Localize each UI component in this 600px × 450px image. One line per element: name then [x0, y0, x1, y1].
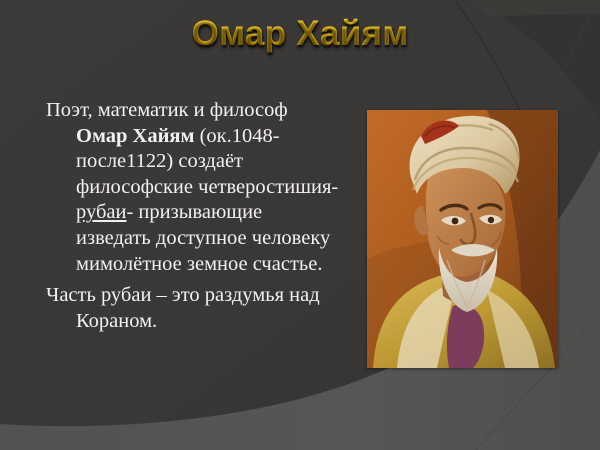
text-run-rubai: рубаи [76, 201, 126, 223]
portrait-illustration [367, 110, 558, 368]
text-run-name: Омар Хайям [76, 125, 194, 147]
portrait-canvas-tint [367, 110, 558, 368]
text-run-intro: Поэт, математик и философ [46, 99, 288, 121]
paragraph-rubai-koran: Часть рубаи – это раздумья над Кораном. [46, 283, 342, 334]
page-title: Омар Хайям [192, 12, 409, 56]
text-run-koran: Часть рубаи – это раздумья над Кораном. [46, 284, 320, 332]
presentation-slide: Омар Хайям Поэт, математик и философ Ома… [0, 0, 600, 450]
body-text-block: Поэт, математик и философ Омар Хайям (ок… [46, 98, 342, 340]
title-bar: Омар Хайям [0, 12, 600, 56]
portrait-omar-khayyam: Живописный портрет Омара Хайяма: пожилой… [367, 110, 558, 368]
paragraph-biography: Поэт, математик и философ Омар Хайям (ок… [46, 98, 342, 277]
